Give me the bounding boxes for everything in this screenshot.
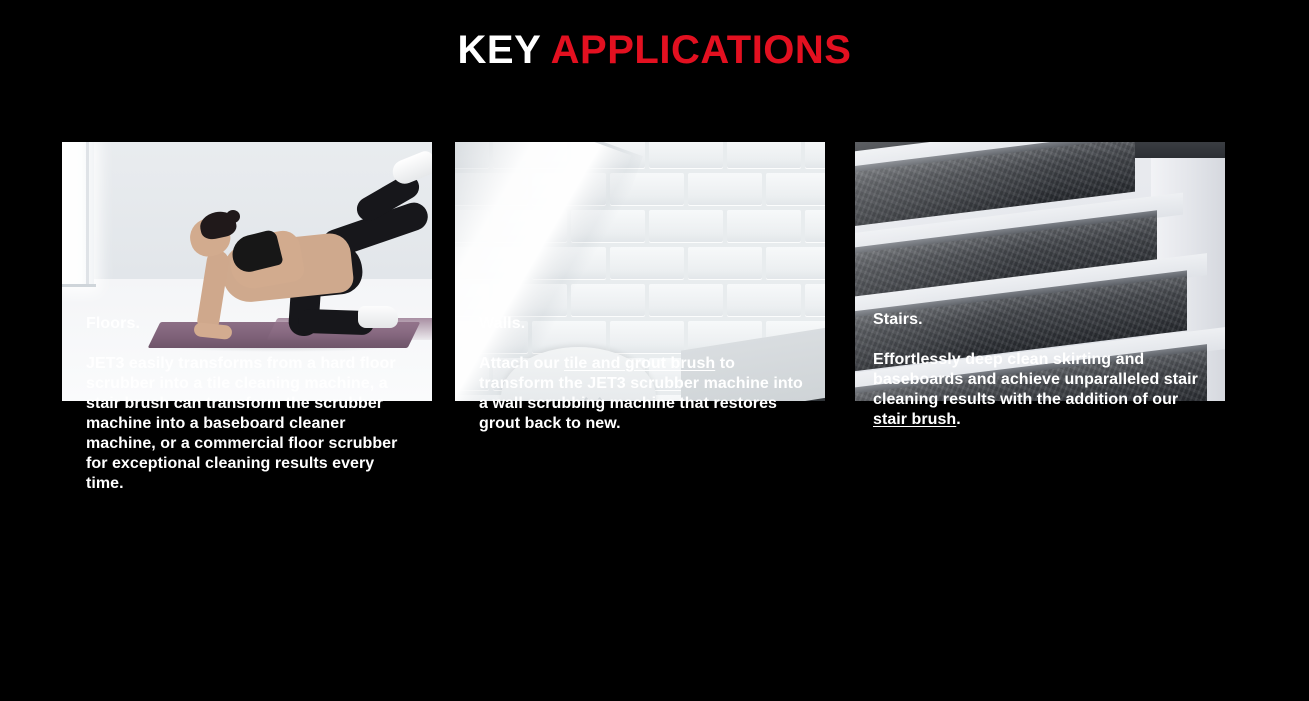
tile-brick xyxy=(649,210,723,243)
tile-row xyxy=(455,173,825,210)
tile-and-grout-brush-link[interactable]: tile and grout brush xyxy=(564,355,715,372)
tile-brick xyxy=(532,247,606,280)
tile-brick xyxy=(493,210,567,243)
tile-brick xyxy=(610,247,684,280)
tile-brick xyxy=(610,173,684,206)
stairs-body-suffix: . xyxy=(956,411,961,428)
tile-brick xyxy=(455,210,489,243)
tile-row xyxy=(455,210,825,247)
tile-brick xyxy=(805,142,825,169)
tile-brick xyxy=(649,284,723,317)
stairs-caption: Stairs. Effortlessly deep clean skirting… xyxy=(873,310,1213,430)
application-card-stairs: Stairs. Effortlessly deep clean skirting… xyxy=(855,142,1225,401)
tile-brick xyxy=(766,173,825,206)
tile-brick xyxy=(805,210,825,243)
tile-brick xyxy=(455,173,528,206)
tile-row xyxy=(455,247,825,284)
tile-brick xyxy=(571,210,645,243)
tile-brick xyxy=(688,173,762,206)
tile-brick xyxy=(727,210,801,243)
tile-brick xyxy=(727,142,801,169)
hair-bun xyxy=(226,210,240,223)
tile-brick xyxy=(727,284,801,317)
tile-row xyxy=(455,142,825,173)
tile-brick xyxy=(688,247,762,280)
stairs-body-prefix: Effortlessly deep clean skirting and bas… xyxy=(873,351,1198,408)
floors-body-text: JET3 easily transforms from a hard floor… xyxy=(86,355,397,492)
tile-brick xyxy=(649,142,723,169)
floors-title: Floors. xyxy=(86,314,416,334)
tile-brick xyxy=(455,247,528,280)
stairs-body: Effortlessly deep clean skirting and bas… xyxy=(873,350,1213,430)
tile-brick xyxy=(571,142,645,169)
floors-caption: Floors. JET3 easily transforms from a ha… xyxy=(86,314,416,494)
walls-body-prefix: Attach our xyxy=(479,355,564,372)
tile-brick xyxy=(493,142,567,169)
page-title-word-key: KEY xyxy=(458,28,551,72)
walls-caption: Walls. Attach our tile and grout brush t… xyxy=(479,314,809,434)
tile-brick xyxy=(455,142,489,169)
tile-brick xyxy=(493,284,567,317)
window xyxy=(62,142,94,287)
floors-body: JET3 easily transforms from a hard floor… xyxy=(86,354,406,494)
walls-title: Walls. xyxy=(479,314,809,334)
key-applications-section: KEY APPLICATIONS xyxy=(0,0,1309,701)
tile-brick xyxy=(455,284,489,317)
page-title-word-applications: APPLICATIONS xyxy=(551,28,852,72)
tile-brick xyxy=(766,247,825,280)
window-sill xyxy=(62,284,96,287)
application-card-walls: Walls. Attach our tile and grout brush t… xyxy=(455,142,825,401)
stair-brush-link[interactable]: stair brush xyxy=(873,411,956,428)
tile-brick xyxy=(571,284,645,317)
tile-brick xyxy=(532,173,606,206)
application-card-floors: Floors. JET3 easily transforms from a ha… xyxy=(62,142,432,401)
walls-body: Attach our tile and grout brush to trans… xyxy=(479,354,809,434)
stairs-title: Stairs. xyxy=(873,310,1213,330)
tile-brick xyxy=(805,284,825,317)
page-title: KEY APPLICATIONS xyxy=(0,28,1309,72)
